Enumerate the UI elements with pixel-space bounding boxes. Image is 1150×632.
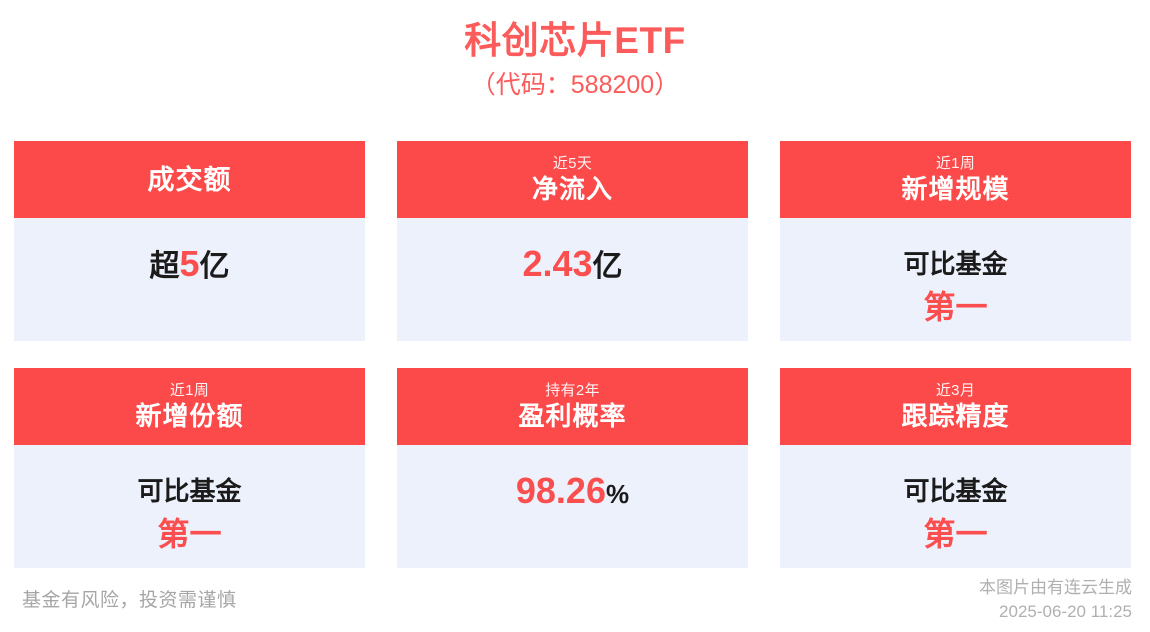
metric-value-line: 可比基金 (903, 244, 1007, 289)
metric-card: 持有2年盈利概率98.26% (397, 368, 748, 568)
metric-card: 近1周新增规模可比基金第一 (780, 141, 1131, 341)
metric-card-body: 超5亿 (14, 218, 365, 341)
metric-period-label: 近5天 (553, 154, 592, 173)
metric-card-header: 近1周新增份额 (14, 368, 365, 445)
metric-card: 成交额超5亿 (14, 141, 365, 341)
metric-value-line: 可比基金 (137, 471, 241, 516)
metric-card-body: 可比基金第一 (780, 445, 1131, 568)
metric-value-part: 亿 (200, 250, 230, 283)
metric-period-label: 近3月 (936, 381, 975, 400)
metric-card-grid: 成交额超5亿近5天净流入2.43亿近1周新增规模可比基金第一近1周新增份额可比基… (14, 141, 1136, 568)
metric-name-label: 盈利概率 (518, 400, 626, 432)
metric-card-body: 可比基金第一 (14, 445, 365, 568)
metric-value: 可比基金第一 (137, 471, 241, 561)
metric-value-line: 可比基金 (903, 471, 1007, 516)
metric-value-part: 可比基金 (903, 249, 1007, 279)
metric-value-line: 2.43亿 (522, 244, 622, 292)
metric-value: 可比基金第一 (903, 471, 1007, 561)
metric-card-header: 近3月跟踪精度 (780, 368, 1131, 445)
metric-value-line: 第一 (903, 514, 1007, 561)
metric-value-part: 5 (179, 243, 199, 284)
metric-name-label: 新增份额 (135, 400, 243, 432)
metric-value-part: 98.26 (516, 470, 606, 511)
metric-card: 近1周新增份额可比基金第一 (14, 368, 365, 568)
metric-period-label: 持有2年 (545, 381, 600, 400)
metric-value-line: 第一 (137, 514, 241, 561)
generator-source: 本图片由有连云生成 (979, 576, 1132, 600)
metric-value: 98.26% (516, 471, 629, 519)
metric-period-label: 近1周 (170, 381, 209, 400)
metric-name-label: 跟踪精度 (901, 400, 1009, 432)
metric-value-part: 亿 (593, 250, 623, 283)
metric-value-line: 98.26% (516, 471, 629, 519)
metric-card: 近3月跟踪精度可比基金第一 (780, 368, 1131, 568)
metric-card-header: 近1周新增规模 (780, 141, 1131, 218)
metric-card-body: 可比基金第一 (780, 218, 1131, 341)
metric-value-part: 超 (149, 250, 179, 283)
metric-value-line: 超5亿 (149, 244, 229, 292)
page-title: 科创芯片ETF (0, 18, 1150, 64)
metric-value-part: 可比基金 (903, 476, 1007, 506)
metric-value-part: 可比基金 (137, 476, 241, 506)
metric-value-part: 第一 (157, 516, 221, 552)
metric-card-header: 近5天净流入 (397, 141, 748, 218)
page-header: 科创芯片ETF （代码：588200） (0, 0, 1150, 102)
metric-name-label: 净流入 (532, 173, 613, 205)
metric-card-header: 成交额 (14, 141, 365, 218)
metric-name-label: 成交额 (148, 164, 232, 196)
metric-value: 2.43亿 (522, 244, 622, 292)
metric-card-body: 2.43亿 (397, 218, 748, 341)
metric-card-header: 持有2年盈利概率 (397, 368, 748, 445)
metric-value-part: 第一 (923, 516, 987, 552)
metric-value-line: 第一 (903, 287, 1007, 334)
metric-value-part: 2.43 (522, 243, 592, 284)
metric-value: 超5亿 (149, 244, 229, 292)
etf-infographic-page: 科创芯片ETF （代码：588200） 成交额超5亿近5天净流入2.43亿近1周… (0, 0, 1150, 632)
metric-period-label: 近1周 (936, 154, 975, 173)
metric-value-part: % (606, 479, 629, 509)
metric-value: 可比基金第一 (903, 244, 1007, 334)
metric-card: 近5天净流入2.43亿 (397, 141, 748, 341)
fund-code: （代码：588200） (0, 68, 1150, 102)
metric-card-body: 98.26% (397, 445, 748, 568)
generation-credit: 本图片由有连云生成 2025-06-20 11:25 (979, 576, 1132, 624)
risk-disclaimer: 基金有风险，投资需谨慎 (22, 588, 237, 614)
metric-value-part: 第一 (923, 289, 987, 325)
generation-timestamp: 2025-06-20 11:25 (979, 600, 1132, 624)
metric-name-label: 新增规模 (901, 173, 1009, 205)
